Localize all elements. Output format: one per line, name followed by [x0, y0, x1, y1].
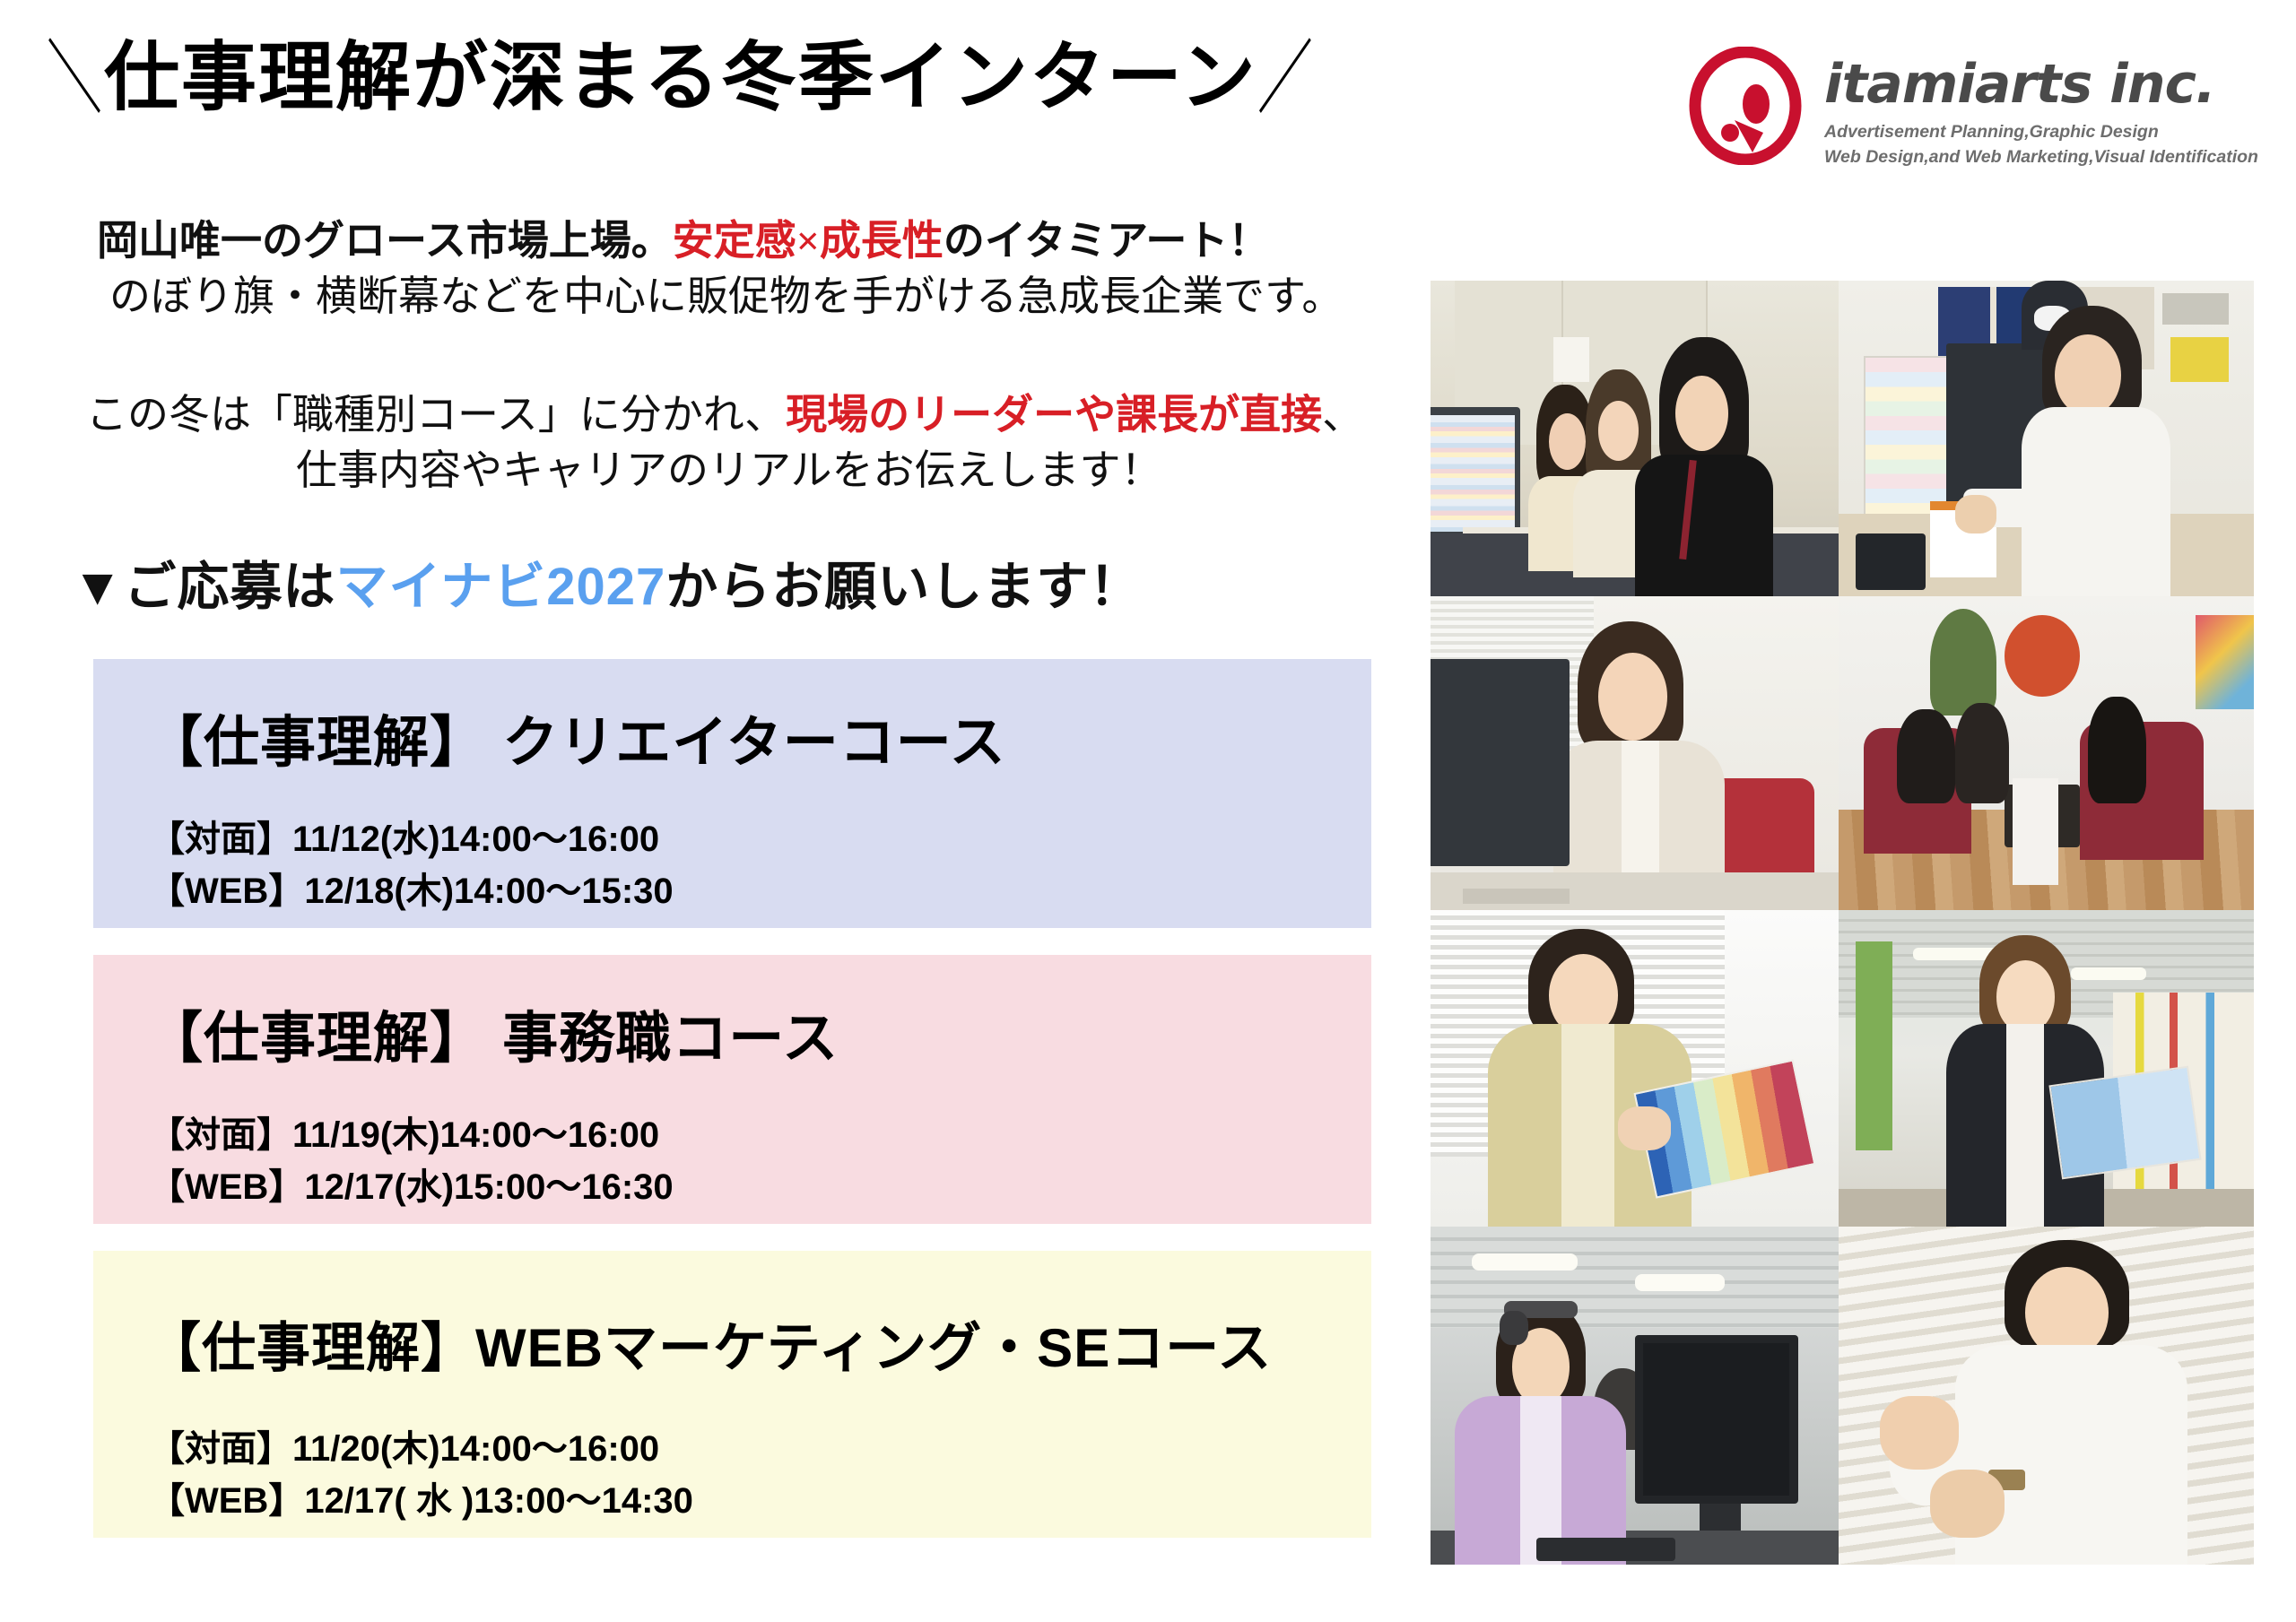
- course-title: 【仕事理解】WEBマーケティング・SEコース: [147, 1305, 1272, 1383]
- intro-line-1-part-b: のイタミアート！: [944, 218, 1269, 264]
- title-slash-left: ＼: [47, 36, 104, 125]
- course-title: 【仕事理解】 事務職コース: [147, 993, 839, 1073]
- cta-prefix: ご応募は: [124, 558, 335, 616]
- session-in-person: 【対面】11/12(水)14:00〜16:00: [149, 813, 674, 865]
- course-card-creator[interactable]: 【仕事理解】 クリエイターコース 【対面】11/12(水)14:00〜16:00…: [93, 659, 1371, 928]
- poster-canvas: ＼仕事理解が深まる冬季インターン／ itamiarts inc. Adverti…: [0, 0, 2296, 1622]
- photo-lounge-meeting-red-armchairs: [1839, 596, 2254, 910]
- photo-office-team-discussion: [1431, 281, 1839, 596]
- course-card-webmarketing-se[interactable]: 【仕事理解】WEBマーケティング・SEコース 【対面】11/20(木)14:00…: [93, 1251, 1371, 1538]
- photo-gallery: [1431, 281, 2254, 1565]
- logo-wordmark: itamiarts inc.: [1824, 57, 2258, 111]
- intro-line-1: 岡山唯一のグロース市場上場。安定感×成長性のイタミアート！: [97, 213, 1269, 269]
- intro-line-3-part-b: 、: [1322, 392, 1363, 438]
- title-text: 仕事理解が深まる冬季インターン: [104, 35, 1257, 119]
- logo-tagline: Advertisement Planning,Graphic Design We…: [1824, 119, 2258, 170]
- photo-woman-holding-color-swatch-fan: [1431, 910, 1839, 1227]
- session-web: 【WEB】12/18(木)14:00〜15:30: [149, 865, 674, 917]
- photo-man-gesturing-in-meeting: [1839, 1227, 2254, 1565]
- session-in-person: 【対面】11/20(木)14:00〜16:00: [149, 1423, 693, 1475]
- logo-text-group: itamiarts inc. Advertisement Planning,Gr…: [1824, 47, 2258, 170]
- page-title: ＼仕事理解が深まる冬季インターン／: [47, 36, 1315, 118]
- mynavi-2027-link[interactable]: マイナビ2027: [335, 558, 665, 616]
- photo-woman-with-catalog-in-warehouse: [1839, 910, 2254, 1227]
- intro-line-3-highlight: 現場のリーダーや課長が直接: [786, 392, 1322, 438]
- cta-suffix: からお願いします！: [665, 558, 1142, 616]
- apply-cta: ▼ご応募はマイナビ2027からお願いします！: [72, 544, 1142, 620]
- itamiarts-circle-mark-icon: [1686, 47, 1805, 165]
- intro-line-3-part-a: この冬は「職種別コース」に分かれ、: [86, 392, 786, 438]
- logo-tagline-line-2: Web Design,and Web Marketing,Visual Iden…: [1824, 144, 2258, 169]
- company-logo: itamiarts inc. Advertisement Planning,Gr…: [1686, 47, 2258, 170]
- course-sessions: 【対面】11/12(水)14:00〜16:00 【WEB】12/18(木)14:…: [149, 813, 674, 917]
- logo-tagline-line-1: Advertisement Planning,Graphic Design: [1824, 119, 2258, 144]
- course-title: 【仕事理解】 クリエイターコース: [147, 697, 1006, 777]
- photo-woman-with-headset-at-pc: [1431, 1227, 1839, 1565]
- intro-line-2: のぼり旗・横断幕などを中心に販促物を手がける急成長企業です。: [109, 269, 1343, 325]
- cta-triangle-icon: ▼: [72, 558, 124, 616]
- session-web: 【WEB】12/17( 水 )13:00〜14:30: [149, 1475, 693, 1527]
- title-slash-right: ／: [1257, 36, 1315, 125]
- photo-woman-smiling-at-monitor: [1431, 596, 1839, 910]
- course-card-office[interactable]: 【仕事理解】 事務職コース 【対面】11/19(木)14:00〜16:00 【W…: [93, 955, 1371, 1224]
- session-in-person: 【対面】11/19(木)14:00〜16:00: [149, 1109, 674, 1161]
- course-sessions: 【対面】11/19(木)14:00〜16:00 【WEB】12/17(水)15:…: [149, 1109, 674, 1213]
- intro-line-3: この冬は「職種別コース」に分かれ、現場のリーダーや課長が直接、: [86, 387, 1363, 443]
- intro-line-1-highlight: 安定感×成長性: [673, 218, 944, 264]
- intro-line-4: 仕事内容やキャリアのリアルをお伝えします！: [296, 443, 1162, 499]
- photo-man-at-desk-with-calendar: [1839, 281, 2254, 596]
- course-sessions: 【対面】11/20(木)14:00〜16:00 【WEB】12/17( 水 )1…: [149, 1423, 693, 1527]
- session-web: 【WEB】12/17(水)15:00〜16:30: [149, 1161, 674, 1213]
- intro-line-1-part-a: 岡山唯一のグロース市場上場。: [97, 218, 673, 264]
